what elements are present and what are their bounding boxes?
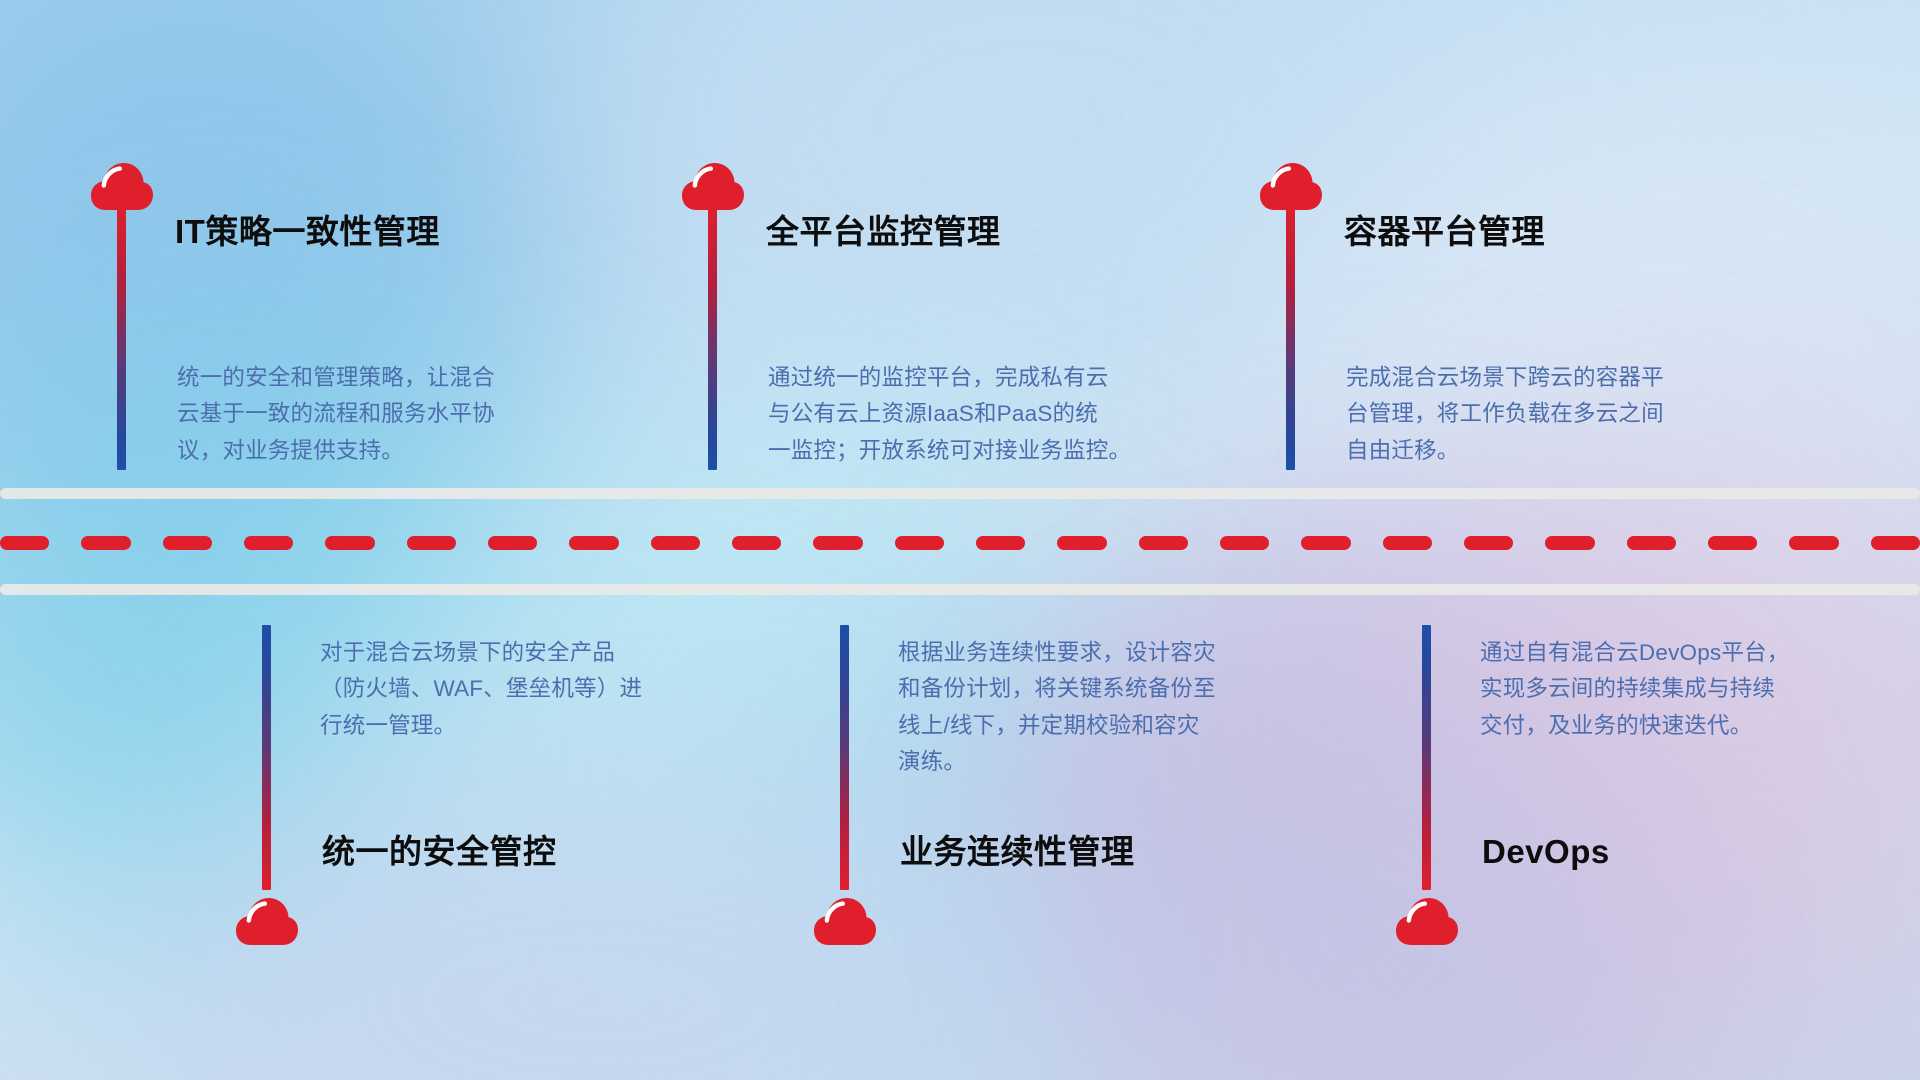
road-dash-segment [1708, 536, 1757, 550]
feature-body-text: 通过统一的监控平台，完成私有云 与公有云上资源IaaS和PaaS的统 一监控；开… [768, 360, 1228, 469]
road-dash-segment [1220, 536, 1269, 550]
road-dash-segment [0, 536, 49, 550]
road-divider [0, 488, 1920, 608]
road-dash-segment [1545, 536, 1594, 550]
road-dash-segment [1057, 536, 1106, 550]
stem-connector [1422, 625, 1431, 890]
road-dash-segment [325, 536, 374, 550]
road-dash-segment [244, 536, 293, 550]
road-dash-segment [163, 536, 212, 550]
stem-connector [840, 625, 849, 890]
road-dash-segment [1383, 536, 1432, 550]
feature-body-text: 对于混合云场景下的安全产品 （防火墙、WAF、堡垒机等）进 行统一管理。 [320, 635, 760, 744]
feature-body-text: 完成混合云场景下跨云的容器平 台管理，将工作负载在多云之间 自由迁移。 [1346, 360, 1796, 469]
stem-connector [708, 205, 717, 470]
road-dash-segment [407, 536, 456, 550]
road-dash-segment [1789, 536, 1838, 550]
feature-body-text: 通过自有混合云DevOps平台， 实现多云间的持续集成与持续 交付，及业务的快速… [1480, 635, 1920, 744]
feature-body-text: 根据业务连续性要求，设计容灾 和备份计划，将关键系统备份至 线上/线下，并定期校… [898, 635, 1338, 781]
cloud-icon [1394, 895, 1460, 947]
feature-heading: 容器平台管理 [1344, 215, 1545, 248]
road-dash-segment [1139, 536, 1188, 550]
feature-heading: 全平台监控管理 [766, 215, 1001, 248]
feature-heading: DevOps [1482, 835, 1610, 868]
feature-heading: 业务连续性管理 [900, 835, 1135, 868]
road-dash-segment [569, 536, 618, 550]
feature-heading: 统一的安全管控 [322, 835, 557, 868]
cloud-icon [812, 895, 878, 947]
feature-body-text: 统一的安全和管理策略，让混合 云基于一致的流程和服务水平协 议，对业务提供支持。 [177, 360, 617, 469]
road-dash-segment [1871, 536, 1920, 550]
road-dash-segment [732, 536, 781, 550]
road-dash-segment [651, 536, 700, 550]
road-dash-segment [1627, 536, 1676, 550]
road-dash-segment [895, 536, 944, 550]
stem-connector [1286, 205, 1295, 470]
road-dash-segment [1301, 536, 1350, 550]
cloud-icon [234, 895, 300, 947]
road-dash-segment [1464, 536, 1513, 550]
road-edge-bottom [0, 584, 1920, 595]
road-dash-segment [488, 536, 537, 550]
stem-connector [117, 205, 126, 470]
road-dash-segment [813, 536, 862, 550]
feature-heading: IT策略一致性管理 [175, 215, 440, 248]
road-dash-segment [976, 536, 1025, 550]
road-dash-segment [81, 536, 130, 550]
stem-connector [262, 625, 271, 890]
road-edge-top [0, 488, 1920, 499]
road-dashed-centerline [0, 536, 1920, 550]
